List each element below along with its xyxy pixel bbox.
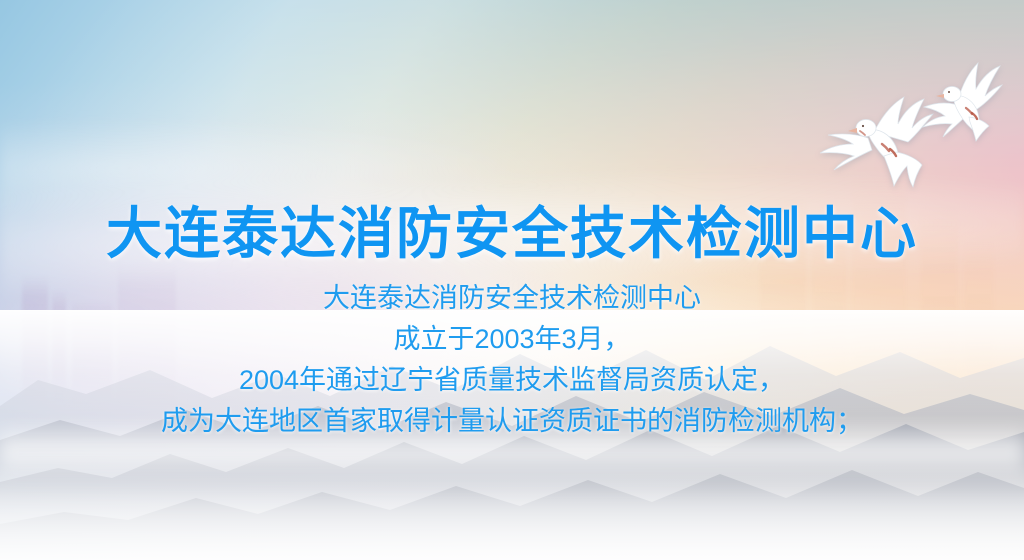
intro-line-1: 大连泰达消防安全技术检测中心 xyxy=(0,278,1024,319)
intro-line-2: 成立于2003年3月， xyxy=(0,319,1024,360)
banner-content: 大连泰达消防安全技术检测中心 大连泰达消防安全技术检测中心 成立于2003年3月… xyxy=(0,0,1024,560)
intro-line-3: 2004年通过辽宁省质量技术监督局资质认定， xyxy=(0,360,1024,401)
intro-paragraph: 大连泰达消防安全技术检测中心 成立于2003年3月， 2004年通过辽宁省质量技… xyxy=(0,278,1024,442)
page-title: 大连泰达消防安全技术检测中心 xyxy=(0,206,1024,262)
hero-banner: 大连泰达消防安全技术检测中心 大连泰达消防安全技术检测中心 成立于2003年3月… xyxy=(0,0,1024,560)
intro-line-4: 成为大连地区首家取得计量认证资质证书的消防检测机构； xyxy=(0,401,1024,442)
